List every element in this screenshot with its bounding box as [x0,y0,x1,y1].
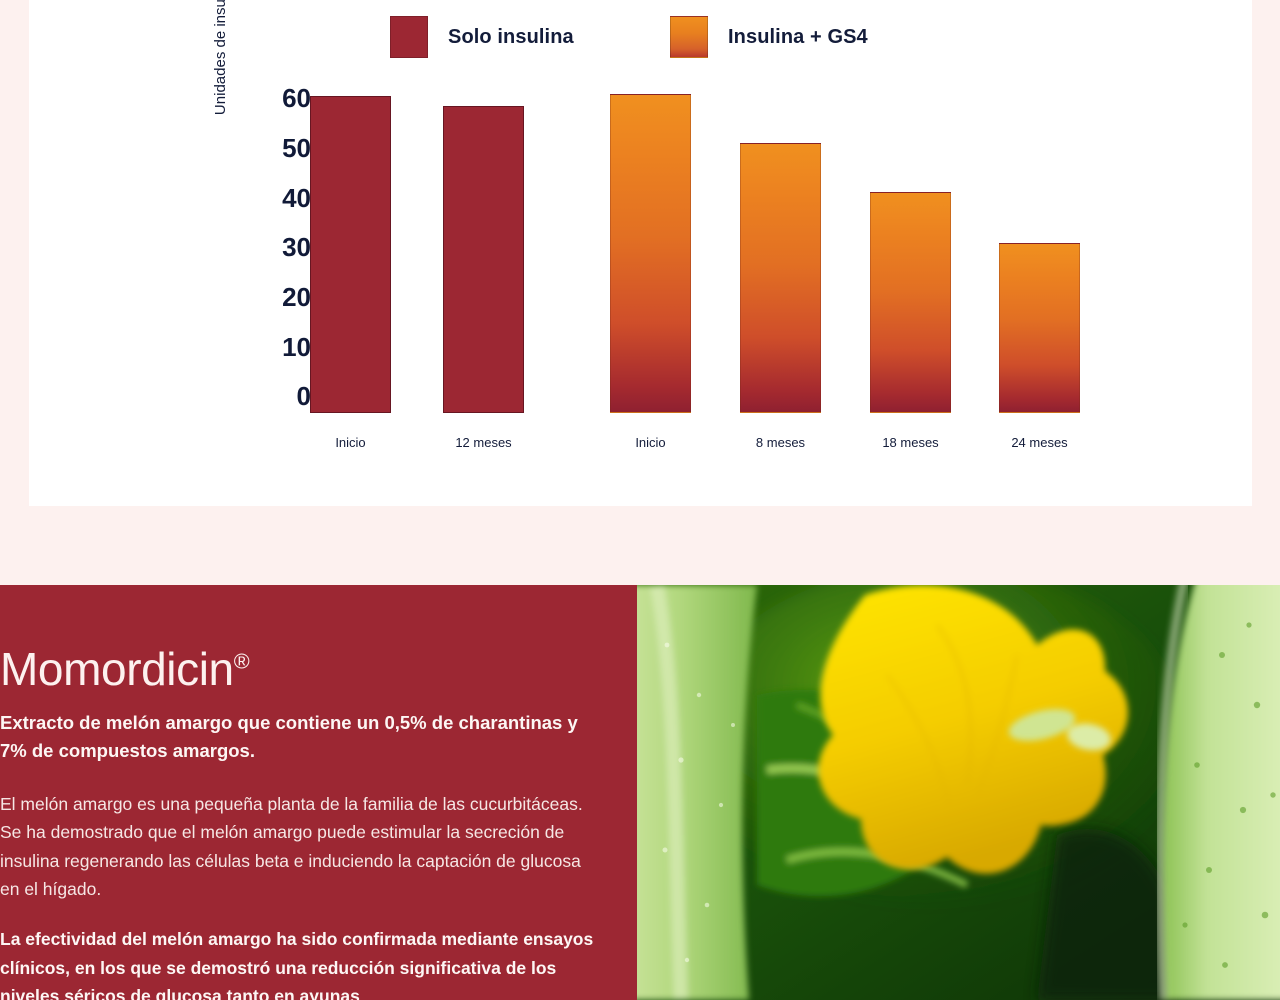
bar-insulina-gs4-24-meses [999,243,1080,413]
product-subtitle: Extracto de melón amargo que contiene un… [0,709,595,764]
plant-photo [637,585,1280,1000]
bar-solo-insulina-12-meses [443,106,524,413]
bar-solo-insulina-inicio [310,96,391,413]
x-tick-label-5: 24 meses [999,435,1080,450]
bar-group [29,0,1252,506]
chart-card: Solo insulina Insulina + GS4 Unidades de… [29,0,1252,506]
product-title-text: Momordicin [0,643,234,695]
bar-insulina-gs4-18-meses [870,192,951,413]
bar-insulina-gs4-inicio [610,94,691,413]
product-info-panel: Momordicin® Extracto de melón amargo que… [0,585,637,1000]
x-tick-label-3: 8 meses [740,435,821,450]
bar-chart-plot: Unidades de insulina / días 60 50 40 30 … [29,0,1252,506]
product-paragraph-2: La efectividad del melón amargo ha sido … [0,925,595,1000]
x-tick-label-2: Inicio [610,435,691,450]
bar-insulina-gs4-8-meses [740,143,821,413]
x-tick-label-0: Inicio [310,435,391,450]
product-section: Momordicin® Extracto de melón amargo que… [0,585,1280,1000]
product-paragraph-1: El melón amargo es una pequeña planta de… [0,790,595,903]
x-tick-label-1: 12 meses [443,435,524,450]
x-tick-label-4: 18 meses [870,435,951,450]
registered-trademark-icon: ® [234,649,250,674]
product-title: Momordicin® [0,645,595,693]
